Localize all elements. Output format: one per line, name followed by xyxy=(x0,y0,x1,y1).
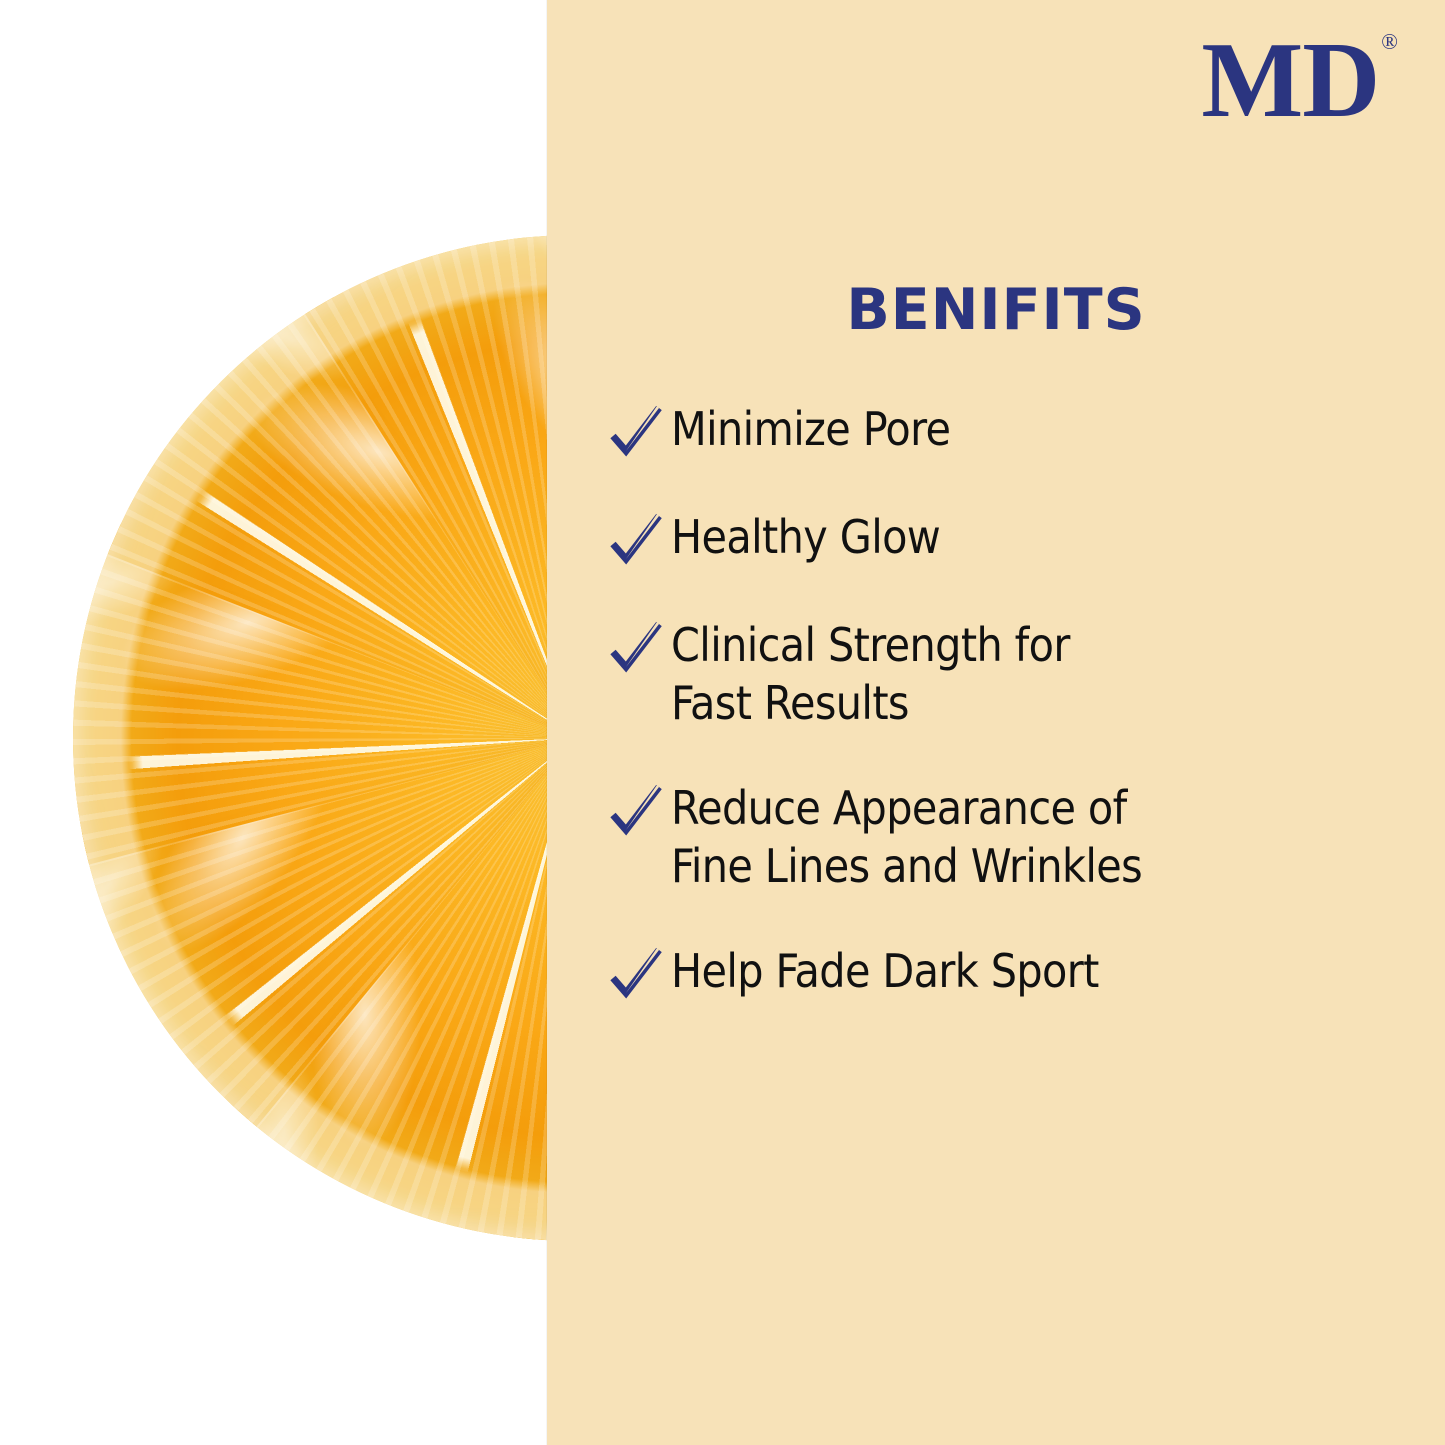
content-panel: MD® BENIFITS Minimize Pore xyxy=(547,0,1445,1445)
promo-banner: MD® BENIFITS Minimize Pore xyxy=(0,0,1445,1445)
list-item-label: Healthy Glow xyxy=(671,508,940,566)
check-icon xyxy=(607,512,665,570)
list-item-label: Minimize Pore xyxy=(671,400,950,458)
check-icon xyxy=(607,946,665,1004)
check-icon xyxy=(607,783,665,841)
list-item-label: Clinical Strength for Fast Results xyxy=(671,616,1070,733)
check-icon xyxy=(607,620,665,678)
brand-logo: MD® xyxy=(1201,27,1395,135)
list-item: Clinical Strength for Fast Results xyxy=(607,616,1437,733)
benefits-list: Minimize Pore Healthy Glow xyxy=(607,400,1437,1004)
list-item: Reduce Appearance of Fine Lines and Wrin… xyxy=(607,779,1437,896)
page-title: BENIFITS xyxy=(686,282,1306,339)
orange-slice-photo xyxy=(73,235,547,1241)
registered-trademark-icon: ® xyxy=(1381,29,1397,54)
list-item-label: Reduce Appearance of Fine Lines and Wrin… xyxy=(671,779,1142,896)
list-item: Minimize Pore xyxy=(607,400,1437,462)
brand-logo-text: MD xyxy=(1201,21,1379,140)
list-item-label: Help Fade Dark Sport xyxy=(671,942,1099,1000)
check-icon xyxy=(607,404,665,462)
list-item: Healthy Glow xyxy=(607,508,1437,570)
image-panel xyxy=(0,0,547,1445)
list-item: Help Fade Dark Sport xyxy=(607,942,1437,1004)
